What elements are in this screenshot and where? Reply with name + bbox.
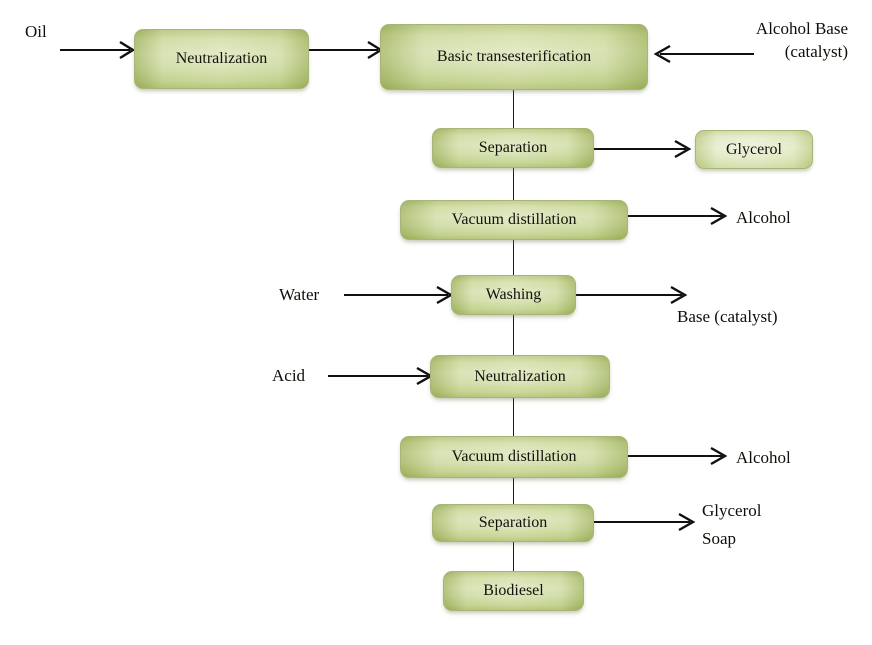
connector-transesterification-to-separation1 <box>513 90 514 128</box>
connector-separation1-to-vacuum1 <box>513 168 514 200</box>
node-label: Vacuum distillation <box>452 448 577 466</box>
node-biodiesel[interactable]: Biodiesel <box>443 571 584 611</box>
node-label: Separation <box>479 139 547 157</box>
node-basic-transesterification[interactable]: Basic transesterification <box>380 24 648 90</box>
arrow-neutralization1-to-transesterification <box>308 38 390 62</box>
arrow-oil-to-neutralization1 <box>60 38 140 62</box>
output-label-base-catalyst: Base (catalyst) <box>677 305 778 328</box>
arrow-vacuum2-to-alcohol2 <box>626 444 736 468</box>
arrow-water-to-washing <box>344 283 460 307</box>
node-separation-2[interactable]: Separation <box>432 504 594 542</box>
input-label-water: Water <box>279 283 319 306</box>
output-label-glycerol-soap: Glycerol Soap <box>702 497 761 552</box>
connector-washing-to-neutralization2 <box>513 315 514 355</box>
arrow-washing-to-basecatalyst <box>570 283 694 307</box>
node-label: Neutralization <box>176 50 268 68</box>
input-label-acid: Acid <box>272 364 305 387</box>
node-neutralization-2[interactable]: Neutralization <box>430 355 610 398</box>
arrow-acid-to-neutralization2 <box>328 364 440 388</box>
node-label: Washing <box>486 286 542 304</box>
node-label: Basic transesterification <box>437 48 591 66</box>
node-washing[interactable]: Washing <box>451 275 576 315</box>
connector-separation2-to-biodiesel <box>513 542 514 571</box>
output-label-alcohol-1: Alcohol <box>736 206 791 229</box>
arrow-vacuum1-to-alcohol1 <box>626 204 736 228</box>
node-neutralization-1[interactable]: Neutralization <box>134 29 309 89</box>
flowchart-canvas: Neutralization Basic transesterification… <box>0 0 872 645</box>
node-label: Separation <box>479 514 547 532</box>
node-separation-1[interactable]: Separation <box>432 128 594 168</box>
arrow-separation2-to-glycerolsoap <box>594 510 704 534</box>
output-label-alcohol-2: Alcohol <box>736 446 791 469</box>
node-label: Neutralization <box>474 368 566 386</box>
node-label: Glycerol <box>726 141 782 159</box>
input-label-alcohol-base: Alcohol Base (catalyst) <box>690 17 848 64</box>
input-label-oil: Oil <box>25 20 47 43</box>
node-glycerol-output[interactable]: Glycerol <box>695 130 813 169</box>
node-vacuum-distillation-2[interactable]: Vacuum distillation <box>400 436 628 478</box>
connector-vacuum2-to-separation2 <box>513 478 514 504</box>
arrow-separation1-to-glycerol <box>594 137 698 161</box>
node-label: Vacuum distillation <box>452 211 577 229</box>
connector-vacuum1-to-washing <box>513 240 514 275</box>
connector-neutralization2-to-vacuum2 <box>513 398 514 436</box>
node-vacuum-distillation-1[interactable]: Vacuum distillation <box>400 200 628 240</box>
node-label: Biodiesel <box>483 582 543 600</box>
